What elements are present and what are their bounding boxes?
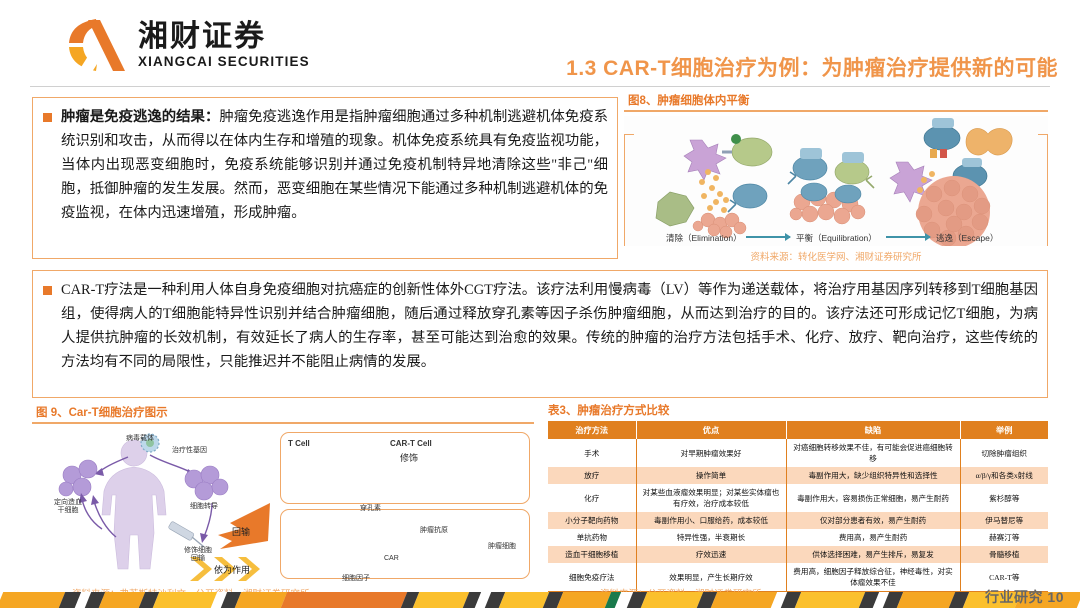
cell-cons: 费用高，细胞因子释放综合征，神经毒性，对实体瘤效果不佳	[786, 563, 960, 592]
slide-page: 湘财证券 XIANGCAI SECURITIES 1.3 CAR-T细胞治疗为例…	[0, 0, 1080, 608]
figure-9-image: 病毒载体 治疗性基因 定向造血 干细胞 细胞转导 修饰细胞 回输 回输 依为作用…	[32, 429, 534, 581]
brand-logo: 湘财证券 XIANGCAI SECURITIES	[66, 16, 310, 74]
cell-method: 化疗	[548, 484, 636, 512]
figure-8-arrow-1	[746, 236, 790, 238]
figure-8-arrow-2	[886, 236, 930, 238]
bullet-1-text: 肿瘤免疫逃逸作用是指肿瘤细胞通过多种机制逃避机体免疫系统识别和攻击，从而得以在体…	[61, 109, 608, 221]
th-method: 治疗方法	[548, 421, 636, 439]
header-divider	[30, 86, 1050, 87]
figure-9-label-reinfusion: 回输	[232, 525, 250, 538]
figure-8-caption: 图8、肿瘤细胞体内平衡	[624, 92, 1048, 108]
th-pros: 优点	[636, 421, 786, 439]
figure-8-source: 资料来源：转化医学网、湘财证券研究所	[624, 249, 1048, 263]
figure-8: 图8、肿瘤细胞体内平衡	[624, 92, 1048, 272]
figure-9-label-car-t-cell-cn: CAR-T细胞	[318, 543, 353, 553]
cell-example: 骨髓移植	[960, 546, 1048, 563]
cell-cons: 仅对部分患者有效，易产生耐药	[786, 512, 960, 529]
comparison-table: 治疗方法 优点 缺陷 举例 手术 对早期肿瘤效果好 对癌细胞转移效果不佳，有可能…	[548, 421, 1048, 592]
cell-cons: 毒副作用大，容易损伤正常细胞，易产生耐药	[786, 484, 960, 512]
figure-8-diagram	[624, 116, 1048, 246]
figure-9-rule	[32, 422, 534, 424]
cell-method: 手术	[548, 439, 636, 467]
cell-pros: 对早期肿瘤效果好	[636, 439, 786, 467]
figure-9-label-gene-transfer: 细胞转导	[190, 501, 218, 511]
cell-cons: 供体选择困难，易产生排斥，易复发	[786, 546, 960, 563]
brand-name-cn: 湘财证券	[138, 21, 310, 53]
table-row: 手术 对早期肿瘤效果好 对癌细胞转移效果不佳，有可能会促进癌细胞转移 切除肿瘤组…	[548, 439, 1048, 467]
table-row: 放疗 操作简单 毒副作用大，缺少组织特异性和选择性 α/β/γ和各类x射线	[548, 467, 1048, 484]
table-row: 单抗药物 特异性强，半衰期长 费用高，易产生耐药 赫赛汀等	[548, 529, 1048, 546]
cell-pros: 毒副作用小、口服给药，成本较低	[636, 512, 786, 529]
bullet-paragraph-2: CAR-T疗法是一种利用人体自身免疫细胞对抗癌症的创新性体外CGT疗法。该疗法利…	[61, 278, 1038, 374]
cell-example: 赫赛汀等	[960, 529, 1048, 546]
figure-9-label-cytokine: 细胞因子	[342, 573, 370, 581]
cell-example: 紫杉醇等	[960, 484, 1048, 512]
bullet-square-icon	[43, 113, 52, 122]
footer-stripe-band	[0, 592, 1080, 608]
figure-9: 图 9、Car-T细胞治疗图示	[32, 404, 534, 584]
table-3: 表3、肿瘤治疗方式比较 治疗方法 优点 缺陷 举例 手术 对早期肿瘤效果好 对癌…	[548, 402, 1048, 592]
figure-9-label-virus-vector: 病毒载体	[126, 433, 154, 443]
figure-8-stage-3-label: 逃逸（Escape）	[936, 232, 998, 244]
cell-example: 切除肿瘤组织	[960, 439, 1048, 467]
figure-9-label-perforin: 穿孔素	[360, 503, 381, 513]
figure-9-label-tumor-antigen: 肿瘤抗原	[420, 525, 448, 535]
figure-9-label-tumor-cell: 肿瘤细胞	[488, 541, 516, 551]
th-cons: 缺陷	[786, 421, 960, 439]
figure-9-caption: 图 9、Car-T细胞治疗图示	[32, 404, 534, 420]
figure-8-stage-1-label: 清除（Elimination）	[666, 232, 742, 244]
cell-pros: 操作简单	[636, 467, 786, 484]
table-row: 化疗 对某些血液瘤效果明显；对某些实体瘤也有疗效，治疗成本较低 毒副作用大，容易…	[548, 484, 1048, 512]
figure-8-stage-2-label: 平衡（Equilibration）	[796, 232, 877, 244]
bullet-1-lead: 肿瘤是免疫逃逸的结果：	[61, 109, 219, 125]
table-row: 小分子靶向药物 毒副作用小、口服给药，成本较低 仅对部分患者有效，易产生耐药 伊…	[548, 512, 1048, 529]
cell-pros: 对某些血液瘤效果明显；对某些实体瘤也有疗效，治疗成本较低	[636, 484, 786, 512]
cell-method: 放疗	[548, 467, 636, 484]
cell-method: 造血干细胞移植	[548, 546, 636, 563]
brand-name-en: XIANGCAI SECURITIES	[138, 54, 310, 69]
cell-method: 单抗药物	[548, 529, 636, 546]
figure-9-label-t-cell: T Cell	[288, 439, 310, 448]
figure-9-label-stemcell: 定向造血 干细胞	[54, 499, 82, 517]
table-header-row: 治疗方法 优点 缺陷 举例	[548, 421, 1048, 439]
figure-9-label-infuse-back: 修饰细胞 回输	[184, 547, 212, 565]
figure-9-label-modify: 修饰	[400, 451, 418, 464]
cell-cons: 费用高，易产生耐药	[786, 529, 960, 546]
cell-example: α/β/γ和各类x射线	[960, 467, 1048, 484]
bullet-paragraph-1: 肿瘤是免疫逃逸的结果：肿瘤免疫逃逸作用是指肿瘤细胞通过多种机制逃避机体免疫系统识…	[61, 105, 608, 225]
table-3-caption: 表3、肿瘤治疗方式比较	[548, 402, 1048, 418]
cell-example: 伊马替尼等	[960, 512, 1048, 529]
page-number-tag: 行业研究 10	[985, 587, 1064, 607]
figure-8-rule	[624, 110, 1048, 112]
xiangcai-logo-icon	[66, 16, 128, 74]
cell-cons: 毒副作用大，缺少组织特异性和选择性	[786, 467, 960, 484]
slide-header: 湘财证券 XIANGCAI SECURITIES 1.3 CAR-T细胞治疗为例…	[0, 0, 1080, 88]
figure-9-label-car-t-cell: CAR-T Cell	[390, 439, 432, 448]
figure-9-label-car: CAR	[384, 555, 399, 562]
table-row: 造血干细胞移植 疗效迅速 供体选择困难，易产生排斥，易复发 骨髓移植	[548, 546, 1048, 563]
cell-pros: 疗效迅速	[636, 546, 786, 563]
figure-9-label-therapeutic-gene: 治疗性基因	[172, 445, 207, 455]
page-title: 1.3 CAR-T细胞治疗为例：为肿瘤治疗提供新的可能	[566, 52, 1058, 82]
th-example: 举例	[960, 421, 1048, 439]
bullet-box-2: CAR-T疗法是一种利用人体自身免疫细胞对抗癌症的创新性体外CGT疗法。该疗法利…	[32, 270, 1048, 398]
cell-method: 小分子靶向药物	[548, 512, 636, 529]
figure-9-label-action: 依为作用	[214, 563, 250, 576]
cell-pros: 特异性强，半衰期长	[636, 529, 786, 546]
bullet-box-1: 肿瘤是免疫逃逸的结果：肿瘤免疫逃逸作用是指肿瘤细胞通过多种机制逃避机体免疫系统识…	[32, 97, 618, 259]
figure-8-image: 清除（Elimination） 平衡（Equilibration） 逃逸（Esc…	[624, 116, 1048, 246]
cell-cons: 对癌细胞转移效果不佳，有可能会促进癌细胞转移	[786, 439, 960, 467]
bullet-square-icon	[43, 286, 52, 295]
